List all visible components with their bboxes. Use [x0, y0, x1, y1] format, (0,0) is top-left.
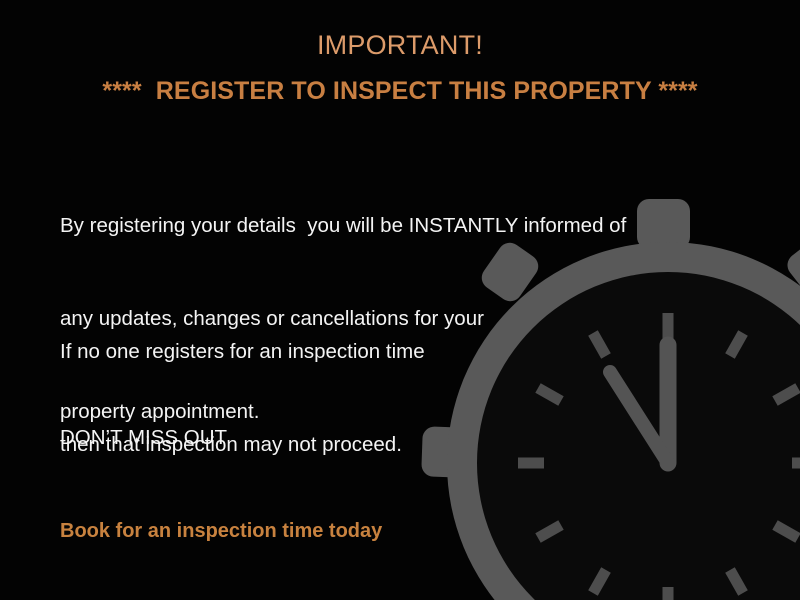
- slide-content: IMPORTANT! **** REGISTER TO INSPECT THIS…: [0, 0, 800, 600]
- cta-line-dont-miss-out: DON’T MISS OUT: [60, 422, 382, 453]
- page-title-important: IMPORTANT!: [0, 30, 800, 61]
- paragraph-call-to-action: DON’T MISS OUT Book for an inspection ti…: [60, 360, 382, 600]
- promo-slide: IMPORTANT! **** REGISTER TO INSPECT THIS…: [0, 0, 800, 600]
- paragraph-registering-line-1: By registering your details you will be …: [60, 210, 626, 241]
- cta-line-book-inspection: Book for an inspection time today: [60, 516, 382, 547]
- page-subtitle-register: **** REGISTER TO INSPECT THIS PROPERTY *…: [0, 77, 800, 106]
